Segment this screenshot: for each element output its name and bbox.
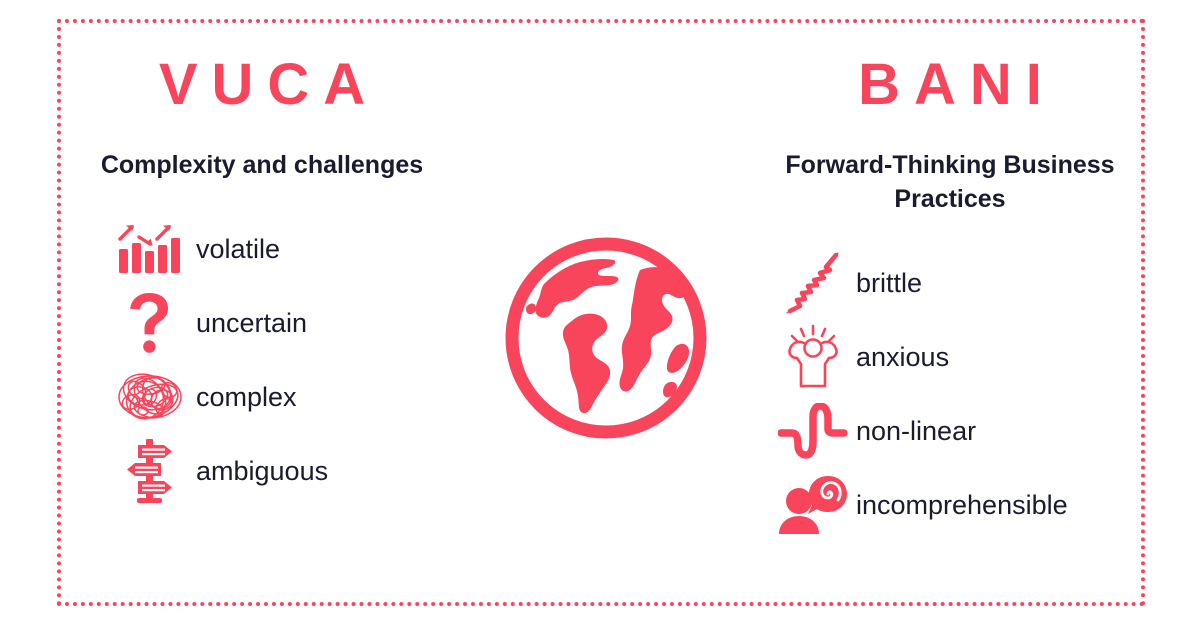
stressed-person-icon xyxy=(770,322,856,392)
list-item: ambiguous xyxy=(82,434,442,508)
infographic-canvas: VUCA Complexity and challenges xyxy=(0,0,1200,630)
list-item-label: complex xyxy=(196,384,297,411)
globe-icon xyxy=(500,232,712,444)
list-item-label: non-linear xyxy=(856,418,976,445)
crack-lightning-icon xyxy=(770,248,856,318)
signpost-directions-icon xyxy=(104,436,196,506)
person-spiral-thought-icon xyxy=(770,470,856,540)
list-item: volatile xyxy=(82,212,442,286)
list-item-label: brittle xyxy=(856,270,922,297)
list-item-label: uncertain xyxy=(196,310,307,337)
vuca-list: volatile uncertain xyxy=(82,212,442,508)
list-item: non-linear xyxy=(770,394,1130,468)
vuca-column: VUCA Complexity and challenges xyxy=(82,56,442,508)
list-item-label: incomprehensible xyxy=(856,492,1068,519)
question-mark-icon xyxy=(104,288,196,358)
vuca-title: VUCA xyxy=(145,56,379,114)
tangled-scribble-icon xyxy=(104,362,196,432)
list-item: complex xyxy=(82,360,442,434)
bar-chart-volatility-icon xyxy=(104,214,196,284)
list-item: uncertain xyxy=(82,286,442,360)
bani-column: BANI Forward-Thinking Business Practices xyxy=(770,56,1130,542)
vuca-subtitle: Complexity and challenges xyxy=(101,148,423,182)
globe-container xyxy=(456,232,756,444)
bani-list: brittle xyxy=(770,246,1130,542)
bani-subtitle: Forward-Thinking Business Practices xyxy=(785,148,1115,216)
list-item-label: anxious xyxy=(856,344,949,371)
infographic-content: VUCA Complexity and challenges xyxy=(0,0,1200,630)
list-item-label: volatile xyxy=(196,236,280,263)
wave-squiggle-icon xyxy=(770,396,856,466)
bani-title: BANI xyxy=(844,56,1056,114)
list-item: anxious xyxy=(770,320,1130,394)
list-item: incomprehensible xyxy=(770,468,1130,542)
list-item: brittle xyxy=(770,246,1130,320)
list-item-label: ambiguous xyxy=(196,458,328,485)
